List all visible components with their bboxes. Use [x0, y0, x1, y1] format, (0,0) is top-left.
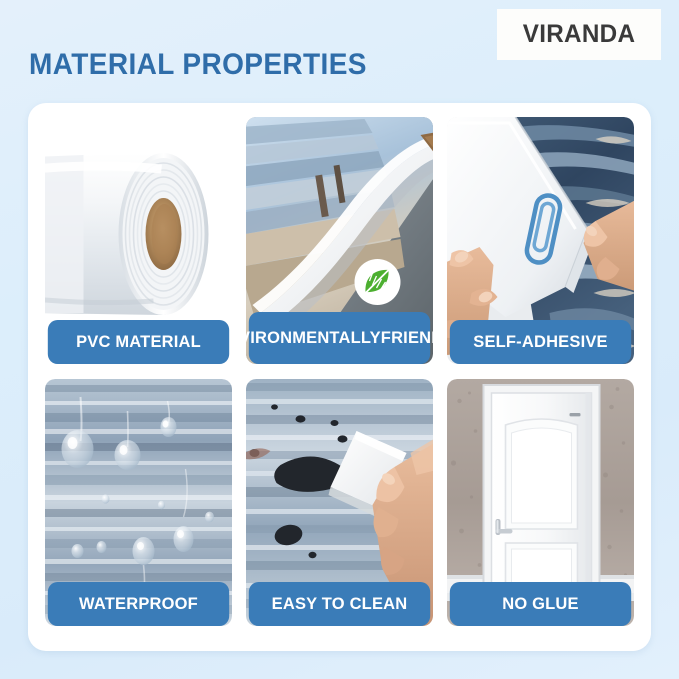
panel-no-glue[interactable]: NO GLUE [447, 379, 634, 626]
panel-label-environmentally-friendly: ENVIRONMENTALLYFRIENDLY [249, 312, 430, 364]
page-header: MATERIAL PROPERTIES VIRANDA [0, 0, 679, 103]
panel-easy-to-clean[interactable]: EASY TO CLEAN [246, 379, 433, 626]
panel-label-waterproof: WATERPROOF [48, 582, 229, 626]
properties-grid: PVC MATERIAL [45, 117, 634, 626]
properties-card: PVC MATERIAL [28, 103, 651, 651]
panel-self-adhesive[interactable]: SELF-ADHESIVE [447, 117, 634, 364]
panel-environmentally-friendly[interactable]: ENVIRONMENTALLYFRIENDLY [246, 117, 433, 364]
panel-label-easy-to-clean: EASY TO CLEAN [249, 582, 430, 626]
panel-label-pvc-material: PVC MATERIAL [48, 320, 229, 364]
panel-label-self-adhesive: SELF-ADHESIVE [450, 320, 631, 364]
panel-waterproof[interactable]: WATERPROOF [45, 379, 232, 626]
panel-pvc-material[interactable]: PVC MATERIAL [45, 117, 232, 364]
page-title: MATERIAL PROPERTIES [29, 48, 367, 82]
brand-logo: VIRANDA [497, 9, 661, 60]
panel-label-no-glue: NO GLUE [450, 582, 631, 626]
brand-name: VIRANDA [523, 20, 636, 49]
